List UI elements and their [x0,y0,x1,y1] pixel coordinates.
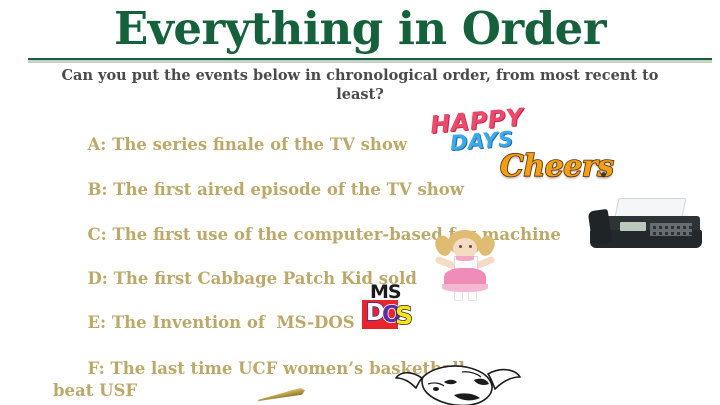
doll-eye-left [459,245,462,248]
list-item-e-label: E: The Invention of MS-DOS [87,313,354,332]
divider-line-shadow [28,60,712,63]
ucf-knights-sword-image [258,392,314,405]
instruction-text: Can you put the events below in chronolo… [60,66,660,104]
doll-arm-left [434,256,455,270]
list-item-a-label: A: The series finale of the TV show [87,135,407,154]
cabbage-patch-doll-image [432,228,498,300]
page-title: Everything in Order [0,2,720,56]
cheers-logo-text: Cheers [500,148,614,186]
doll-collar [456,256,474,261]
doll-dress-hem [442,284,488,292]
usf-bull-logo [392,362,522,405]
list-item-b-label: B: The first aired episode of the TV sho… [87,180,463,199]
fax-handset [588,209,613,245]
slide-canvas: Everything in Order Can you put the even… [0,0,720,405]
fax-keypad [650,223,692,236]
title-divider [28,58,712,64]
cheers-logo: Cheers [500,148,610,188]
fax-machine-image [590,196,710,254]
doll-eye-right [469,245,472,248]
ms-dos-logo-letter-s: S [395,302,413,330]
fax-display [620,222,646,231]
ms-dos-logo: MS D O S [362,283,414,330]
image-edge-artifact [601,172,606,177]
bull-head-illustration [392,362,522,405]
